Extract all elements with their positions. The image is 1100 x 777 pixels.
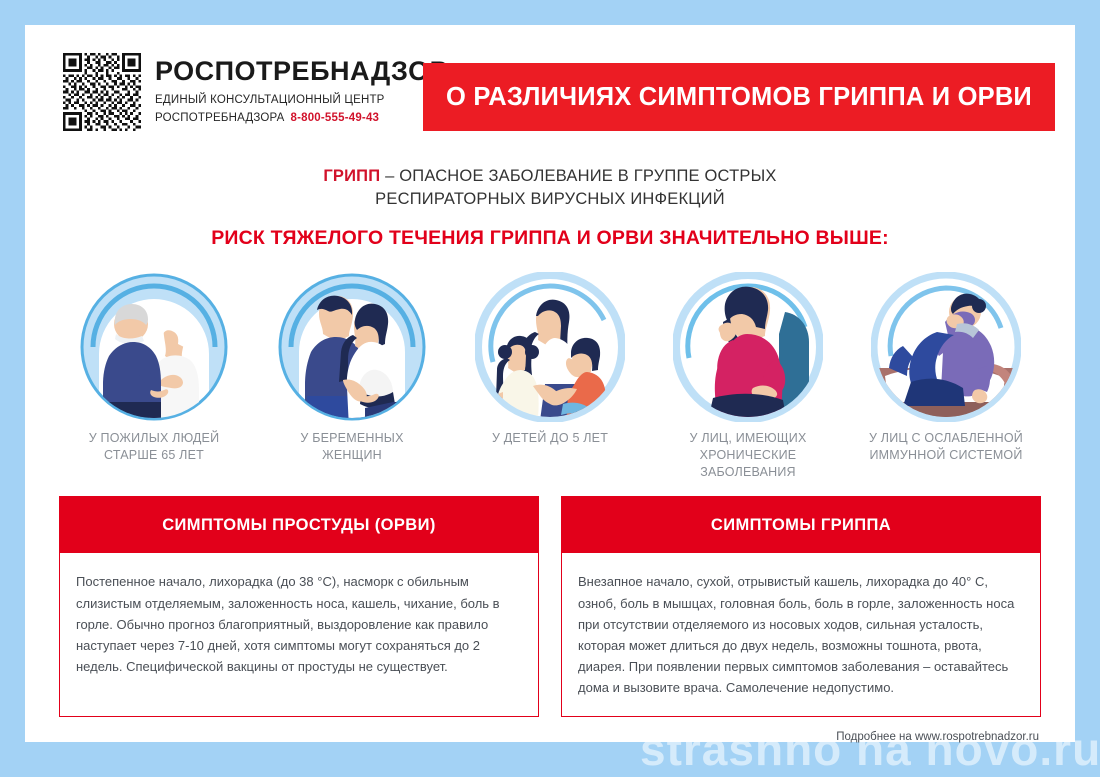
brand-subtitle-org: РОСПОТРЕБНАДЗОРА: [155, 112, 284, 124]
risk-group-elderly: У ПОЖИЛЫХ ЛЮДЕЙ СТАРШЕ 65 ЛЕТ: [59, 272, 249, 481]
footer-link[interactable]: Подробнее на www.rospotrebnadzor.ru: [836, 731, 1039, 743]
brand-subtitle-line-1: ЕДИНЫЙ КОНСУЛЬТАЦИОННЫЙ ЦЕНТР: [155, 92, 448, 109]
panel-body-text: Постепенное начало, лихорадка (до 38 °С)…: [76, 571, 522, 676]
title-bar: О РАЗЛИЧИЯХ СИМПТОМОВ ГРИППА И ОРВИ: [423, 63, 1055, 131]
panel-body: Внезапное начало, сухой, отрывистый каше…: [562, 553, 1040, 715]
mother-children-illustration: [475, 272, 625, 422]
panel-title: СИМПТОМЫ ПРОСТУДЫ (ОРВИ): [162, 516, 436, 535]
bedridden-man-illustration: [871, 272, 1021, 422]
risk-group-children: У ДЕТЕЙ ДО 5 ЛЕТ: [455, 272, 645, 481]
panel-header: СИМПТОМЫ ПРОСТУДЫ (ОРВИ): [60, 497, 538, 553]
intro-line-1-rest: – ОПАСНОЕ ЗАБОЛЕВАНИЕ В ГРУППЕ ОСТРЫХ: [385, 167, 777, 185]
brand-logo-block: РОСПОТРЕБНАДЗОР ЕДИНЫЙ КОНСУЛЬТАЦИОННЫЙ …: [63, 53, 448, 131]
sick-man-illustration: [673, 272, 823, 422]
elderly-couple-illustration: [79, 272, 229, 422]
header: РОСПОТРЕБНАДЗОР ЕДИНЫЙ КОНСУЛЬТАЦИОННЫЙ …: [25, 25, 1075, 145]
risk-group-caption: У ЛИЦ С ОСЛАБЛЕННОЙ ИММУННОЙ СИСТЕМОЙ: [851, 430, 1041, 464]
risk-group-pregnant: У БЕРЕМЕННЫХ ЖЕНЩИН: [257, 272, 447, 481]
risk-heading: РИСК ТЯЖЕЛОГО ТЕЧЕНИЯ ГРИППА И ОРВИ ЗНАЧ…: [25, 227, 1075, 250]
intro-line-2: РЕСПИРАТОРНЫХ ВИРУСНЫХ ИНФЕКЦИЙ: [25, 188, 1075, 211]
risk-groups: У ПОЖИЛЫХ ЛЮДЕЙ СТАРШЕ 65 ЛЕТ: [25, 250, 1075, 481]
panel-header: СИМПТОМЫ ГРИППА: [562, 497, 1040, 553]
risk-group-chronic: У ЛИЦ, ИМЕЮЩИХ ХРОНИЧЕСКИЕ ЗАБОЛЕВАНИЯ: [653, 272, 843, 481]
intro-highlight: ГРИПП: [323, 167, 380, 185]
brand-subtitle-line-2: РОСПОТРЕБНАДЗОРА8-800-555-49-43: [155, 110, 448, 127]
risk-group-caption: У ЛИЦ, ИМЕЮЩИХ ХРОНИЧЕСКИЕ ЗАБОЛЕВАНИЯ: [653, 430, 843, 481]
footer: Подробнее на www.rospotrebnadzor.ru: [25, 717, 1075, 743]
risk-group-caption: У ДЕТЕЙ ДО 5 ЛЕТ: [455, 430, 645, 447]
brand-name: РОСПОТРЕБНАДЗОР: [155, 57, 448, 85]
risk-group-caption: У БЕРЕМЕННЫХ ЖЕНЩИН: [257, 430, 447, 464]
intro-line-1: ГРИПП – ОПАСНОЕ ЗАБОЛЕВАНИЕ В ГРУППЕ ОСТ…: [25, 165, 1075, 188]
qr-code-icon: [63, 53, 141, 131]
brand-text: РОСПОТРЕБНАДЗОР ЕДИНЫЙ КОНСУЛЬТАЦИОННЫЙ …: [155, 53, 448, 127]
symptom-panels: СИМПТОМЫ ПРОСТУДЫ (ОРВИ) Постепенное нач…: [25, 480, 1075, 716]
panel-cold-symptoms: СИМПТОМЫ ПРОСТУДЫ (ОРВИ) Постепенное нач…: [59, 496, 539, 716]
risk-group-immune: У ЛИЦ С ОСЛАБЛЕННОЙ ИММУННОЙ СИСТЕМОЙ: [851, 272, 1041, 481]
panel-body: Постепенное начало, лихорадка (до 38 °С)…: [60, 553, 538, 694]
risk-group-caption: У ПОЖИЛЫХ ЛЮДЕЙ СТАРШЕ 65 ЛЕТ: [59, 430, 249, 464]
hotline-phone[interactable]: 8-800-555-49-43: [290, 112, 379, 124]
intro-section: ГРИПП – ОПАСНОЕ ЗАБОЛЕВАНИЕ В ГРУППЕ ОСТ…: [25, 165, 1075, 250]
panel-body-text: Внезапное начало, сухой, отрывистый каше…: [578, 571, 1024, 697]
infographic-card: РОСПОТРЕБНАДЗОР ЕДИНЫЙ КОНСУЛЬТАЦИОННЫЙ …: [25, 25, 1075, 742]
pregnant-woman-illustration: [277, 272, 427, 422]
brand-subtitle: ЕДИНЫЙ КОНСУЛЬТАЦИОННЫЙ ЦЕНТР РОСПОТРЕБН…: [155, 92, 448, 127]
page-title: О РАЗЛИЧИЯХ СИМПТОМОВ ГРИППА И ОРВИ: [446, 83, 1032, 112]
panel-title: СИМПТОМЫ ГРИППА: [711, 516, 891, 535]
panel-flu-symptoms: СИМПТОМЫ ГРИППА Внезапное начало, сухой,…: [561, 496, 1041, 716]
